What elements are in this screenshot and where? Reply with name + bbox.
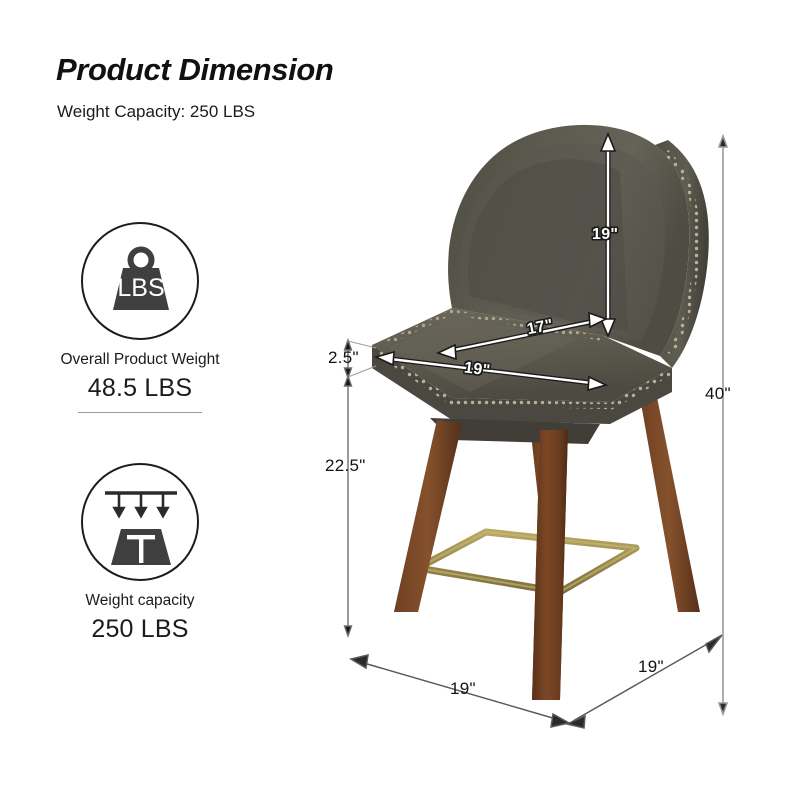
dimline-overall-height: [719, 136, 727, 714]
dimension-label-seat-thickness: 2.5": [328, 348, 359, 368]
product-dimension-infographic: Product Dimension Weight Capacity: 250 L…: [0, 0, 800, 800]
dimension-label-seat-width: 19": [463, 359, 491, 380]
stool-leg-back-right: [639, 392, 700, 612]
dimension-label-overall-height: 40": [705, 384, 731, 404]
dimension-label-base-depth: 19": [638, 657, 664, 677]
dimline-seat-height: [345, 376, 352, 636]
dimension-label-backrest-height: 19": [592, 226, 618, 244]
dimline-base-depth: [567, 635, 722, 728]
product-illustration: 19" 17" 19" 2.5" 22.5" 40" 19" 19": [0, 0, 800, 800]
stool-graphic: [372, 125, 709, 700]
dimension-label-seat-height: 22.5": [325, 456, 366, 476]
footrest-ring: [418, 532, 636, 592]
dimension-label-base-width: 19": [450, 679, 476, 699]
